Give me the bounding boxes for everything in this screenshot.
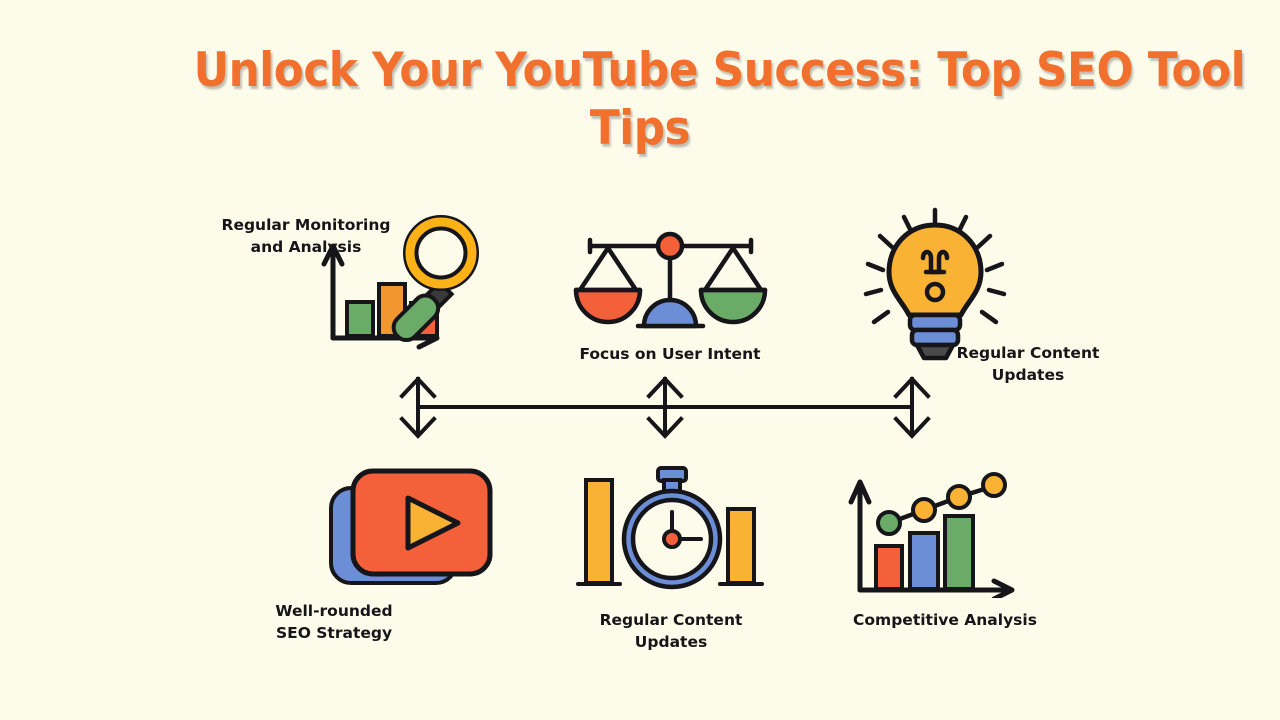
growth-chart-icon: [848, 468, 1023, 603]
node-label-regular-monitoring: Regular Monitoring and Analysis: [206, 214, 406, 258]
page-title-line-1: Unlock Your YouTube Success: Top SEO Too…: [194, 42, 1087, 100]
node-label-regular-content-updates-top: Regular Content Updates: [928, 342, 1128, 386]
page-title: Unlock Your YouTube Success: Top SEO Too…: [160, 42, 1120, 158]
node-label-regular-content-updates-bottom: Regular Content Updates: [571, 609, 771, 653]
stopwatch-bars-icon: [570, 465, 770, 600]
node-label-well-rounded-seo-strategy: Well-rounded SEO Strategy: [234, 600, 434, 644]
balance-scale-icon: [568, 230, 773, 350]
node-label-competitive-analysis: Competitive Analysis: [845, 609, 1045, 631]
horizontal-connector-line: [390, 375, 940, 445]
infographic-canvas: Unlock Your YouTube Success: Top SEO Too…: [0, 0, 1280, 720]
page-title-line-2: Tips: [194, 100, 1087, 158]
node-label-focus-user-intent: Focus on User Intent: [570, 343, 770, 365]
video-play-icon: [325, 465, 500, 600]
